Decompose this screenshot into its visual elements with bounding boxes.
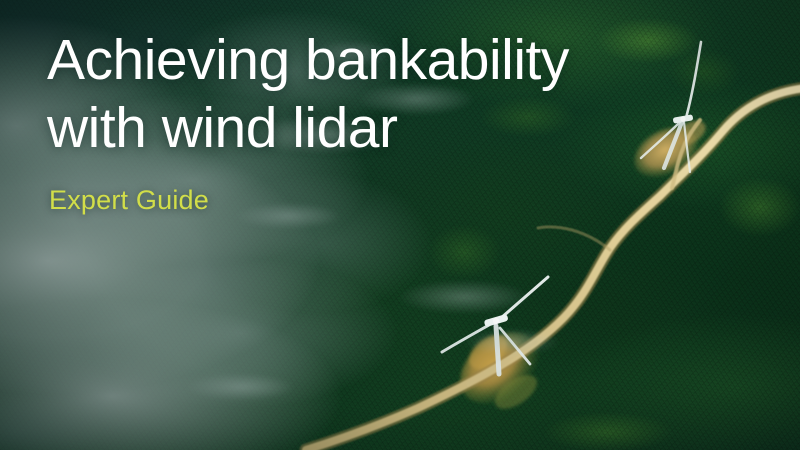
cover-headline: Achieving bankability with wind lidar xyxy=(47,26,727,162)
cover-page: Achieving bankability with wind lidar Ex… xyxy=(0,0,800,450)
cover-subtitle: Expert Guide xyxy=(49,184,727,216)
cover-text-block: Achieving bankability with wind lidar Ex… xyxy=(47,26,727,216)
